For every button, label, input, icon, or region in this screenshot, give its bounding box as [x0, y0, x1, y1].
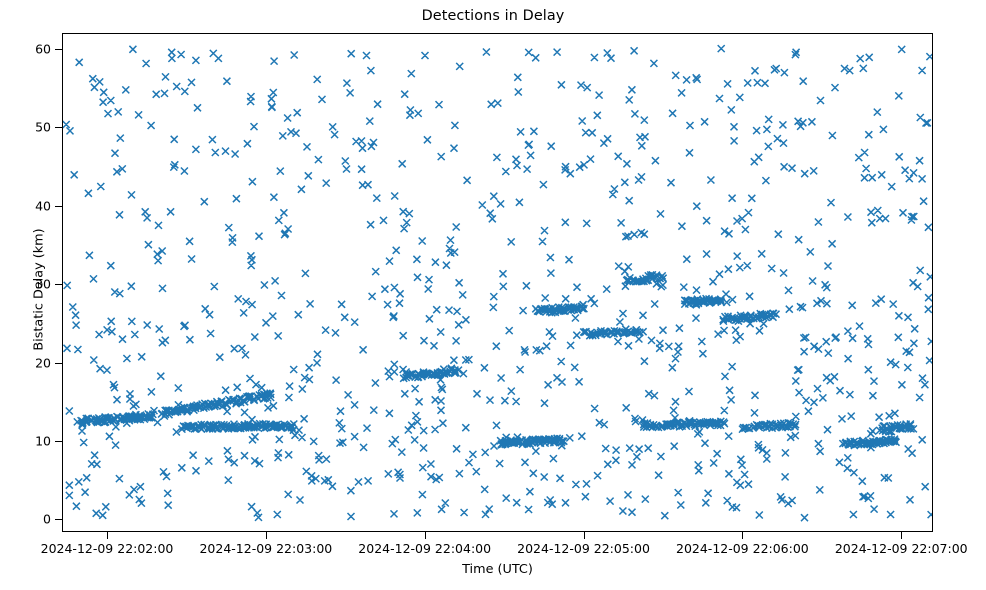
y-tick-label: 10 [7, 433, 51, 448]
x-tick-label: 2024-12-09 22:05:00 [517, 541, 650, 556]
x-tick-label: 2024-12-09 22:03:00 [199, 541, 332, 556]
x-tick-mark [584, 532, 585, 539]
y-tick-label: 0 [7, 512, 51, 527]
y-tick-label-group: 0102030405060 [0, 0, 51, 590]
y-tick-mark [55, 206, 62, 207]
y-tick-label: 30 [7, 277, 51, 292]
y-tick-label: 40 [7, 198, 51, 213]
scatter-marker-path [63, 45, 933, 521]
x-tick-mark [742, 532, 743, 539]
x-axis-label: Time (UTC) [62, 562, 933, 577]
plot-axes-area [62, 33, 933, 532]
y-tick-mark [55, 519, 62, 520]
x-tick-label: 2024-12-09 22:04:00 [358, 541, 491, 556]
y-tick-label: 20 [7, 355, 51, 370]
y-tick-mark [55, 441, 62, 442]
x-tick-mark [266, 532, 267, 539]
x-tick-label: 2024-12-09 22:02:00 [41, 541, 174, 556]
y-tick-mark [55, 49, 62, 50]
x-tick-label: 2024-12-09 22:07:00 [835, 541, 968, 556]
chart-title: Detections in Delay [0, 8, 986, 24]
x-tick-mark [425, 532, 426, 539]
x-tick-label: 2024-12-09 22:06:00 [676, 541, 809, 556]
scatter-points-layer [63, 34, 933, 532]
y-tick-label: 60 [7, 41, 51, 56]
y-tick-mark [55, 363, 62, 364]
x-tick-mark [901, 532, 902, 539]
matplotlib-figure: Detections in Delay Bistatic Delay (km) … [0, 0, 986, 590]
y-tick-mark [55, 284, 62, 285]
x-tick-mark [107, 532, 108, 539]
y-tick-label: 50 [7, 120, 51, 135]
y-tick-mark [55, 127, 62, 128]
